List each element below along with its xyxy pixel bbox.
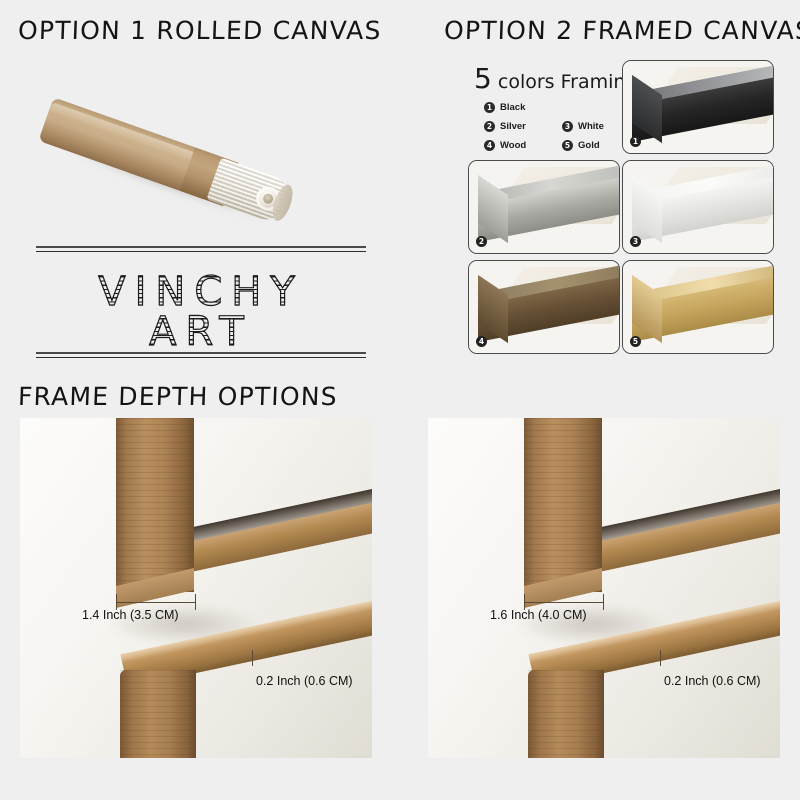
frame-corner-wood-image xyxy=(469,261,619,353)
swatch-badge-5: 5 xyxy=(630,336,641,347)
logo-rule-top xyxy=(36,246,366,252)
frame-corner-white-image xyxy=(623,161,773,253)
lower-vertical-leg xyxy=(528,670,604,758)
swatch-badge-3: 3 xyxy=(630,236,641,247)
legend-item-silver: 2 Silver xyxy=(484,121,562,132)
logo-rule-bottom xyxy=(36,352,366,358)
legend-bullet-5: 5 xyxy=(562,140,573,151)
legend-label-silver: Silver xyxy=(500,121,526,132)
brand-logo: VINCHY ART xyxy=(36,246,366,358)
legend-label-wood: Wood xyxy=(500,140,526,151)
logo-rule-line xyxy=(36,357,366,358)
wall-background xyxy=(428,418,780,758)
frame-corner-gold-image xyxy=(623,261,773,353)
legend-bullet-2: 2 xyxy=(484,121,495,132)
swatch-badge-1: 1 xyxy=(630,136,641,147)
brand-logo-text: VINCHY ART xyxy=(36,272,366,352)
vertical-frame-leg xyxy=(116,418,194,592)
frame-corner-black-image xyxy=(623,61,773,153)
legend-bullet-1: 1 xyxy=(484,102,495,113)
frame-swatch-silver[interactable]: 2 xyxy=(468,160,620,254)
framing-colors-title: 5 colors Framing xyxy=(474,62,637,95)
legend-label-black: Black xyxy=(500,102,525,113)
legend-label-white: White xyxy=(578,121,604,132)
swatch-badge-4: 4 xyxy=(476,336,487,347)
logo-rule-line xyxy=(36,246,366,248)
frame-swatch-wood[interactable]: 4 xyxy=(468,260,620,354)
lip-callout-tick xyxy=(660,650,661,666)
frame-swatch-gold[interactable]: 5 xyxy=(622,260,774,354)
vertical-frame-leg xyxy=(524,418,602,592)
legend-item-wood: 4 Wood xyxy=(484,140,562,151)
frame-lip-measurement-right: 0.2 Inch (0.6 CM) xyxy=(664,674,761,688)
framing-colors-label: colors Framing xyxy=(492,71,638,93)
infographic-page: OPTION 1 ROLLED CANVAS VINCHY ART OPTION… xyxy=(0,0,800,800)
frame-depth-measurement-right: 1.6 Inch (4.0 CM) xyxy=(490,608,587,622)
frame-depth-measurement-left: 1.4 Inch (3.5 CM) xyxy=(82,608,179,622)
legend-item-black: 1 Black xyxy=(484,102,562,113)
lip-callout-tick xyxy=(252,650,253,666)
legend-bullet-4: 4 xyxy=(484,140,495,151)
frame-depth-photo-left: 1.4 Inch (3.5 CM) 0.2 Inch (0.6 CM) xyxy=(20,418,372,758)
wall-background xyxy=(20,418,372,758)
framing-colors-count: 5 xyxy=(474,62,492,95)
legend-bullet-3: 3 xyxy=(562,121,573,132)
rolled-canvas-tube-image xyxy=(20,62,320,222)
framing-options-panel: 5 colors Framing 1 Black 2 Silver 3 Whit… xyxy=(466,58,782,358)
option2-heading: OPTION 2 FRAMED CANVAS xyxy=(443,16,800,45)
frame-lip-measurement-left: 0.2 Inch (0.6 CM) xyxy=(256,674,353,688)
logo-rule-line xyxy=(36,251,366,252)
frame-depth-heading: FRAME DEPTH OPTIONS xyxy=(17,382,338,411)
logo-rule-line xyxy=(36,352,366,354)
frame-swatch-white[interactable]: 3 xyxy=(622,160,774,254)
legend-label-gold: Gold xyxy=(578,140,600,151)
swatch-badge-2: 2 xyxy=(476,236,487,247)
frame-swatch-black[interactable]: 1 xyxy=(622,60,774,154)
frame-corner-silver-image xyxy=(469,161,619,253)
frame-depth-photo-right: 1.6 Inch (4.0 CM) 0.2 Inch (0.6 CM) xyxy=(428,418,780,758)
option1-heading: OPTION 1 ROLLED CANVAS xyxy=(17,16,382,45)
lower-vertical-leg xyxy=(120,670,196,758)
